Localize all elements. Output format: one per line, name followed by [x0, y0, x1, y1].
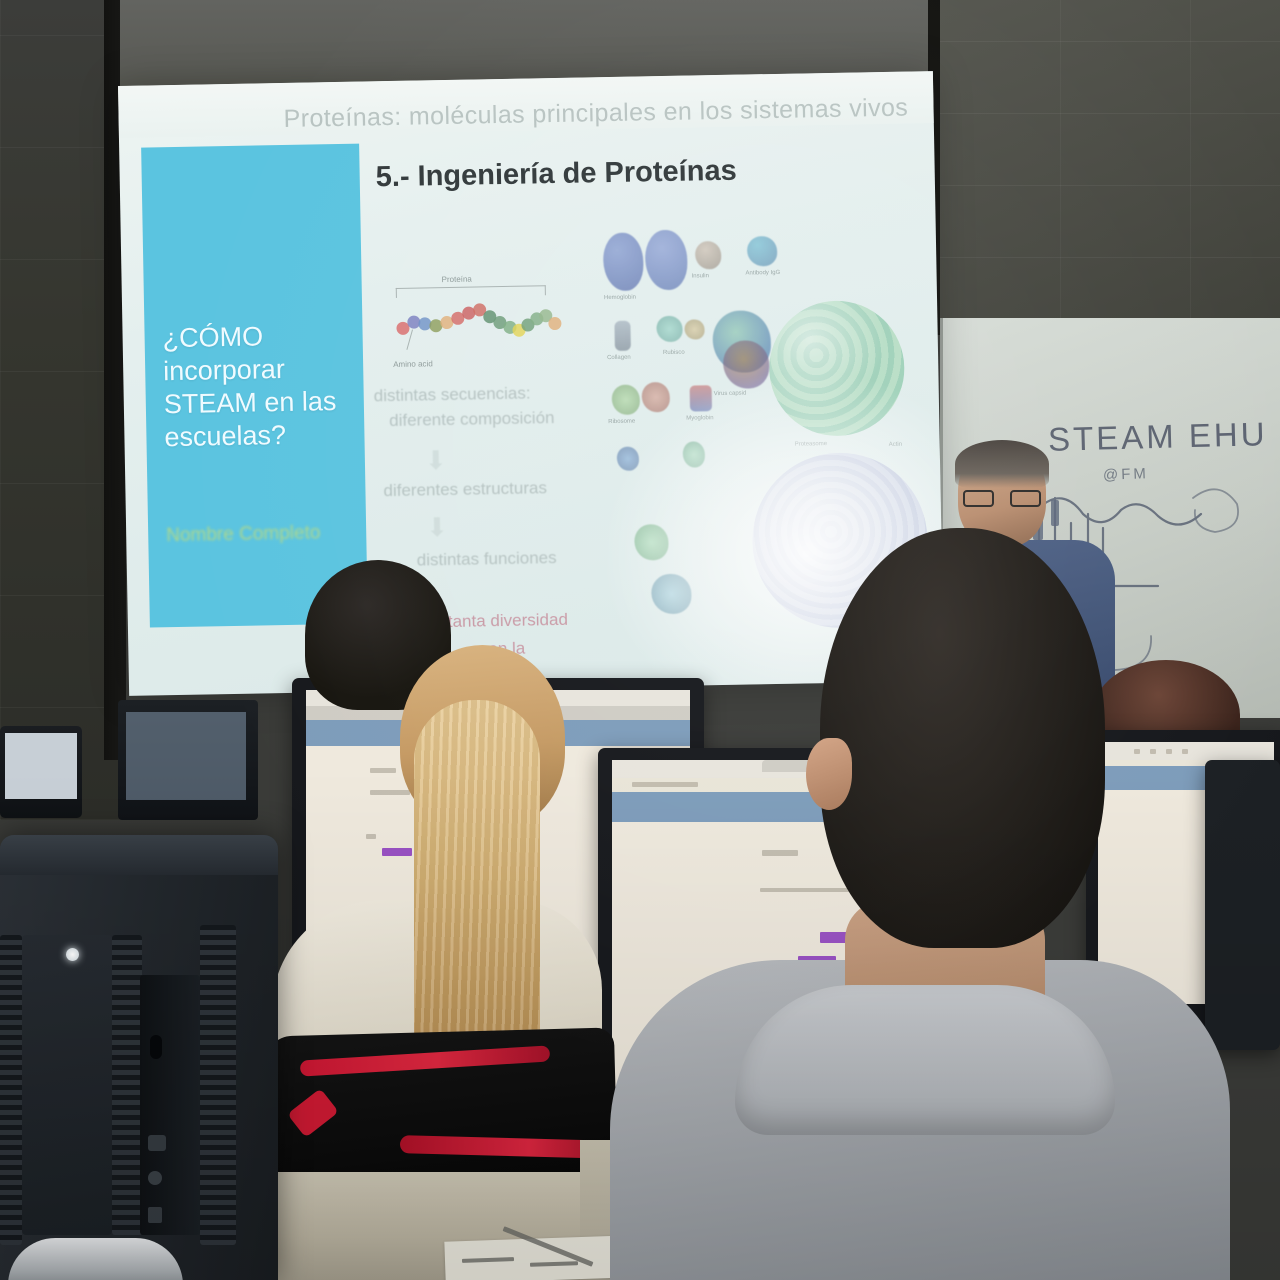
- monitor-left-text-line: [370, 768, 396, 773]
- pc-tower-vent: [0, 935, 22, 1245]
- slide-faded-line-4: distintas funciones: [417, 548, 557, 571]
- protein-blob: [723, 340, 770, 389]
- protein-blob: [645, 230, 688, 291]
- monitor-center-counter-text: [762, 850, 798, 856]
- monitor-far-left: [0, 726, 82, 818]
- protein-blob: [684, 319, 704, 339]
- computer-mouse[interactable]: [8, 1238, 183, 1280]
- slide-question-text: ¿CÓMO incorporar STEAM en las escuelas?: [162, 319, 354, 454]
- protein-blob: [617, 447, 639, 471]
- protein-blob: [690, 385, 712, 411]
- protein-caption: Rubisco: [663, 349, 709, 357]
- pc-tower: [0, 835, 278, 1280]
- monitor-far-left-screen: [5, 733, 77, 799]
- protein-caption: Myoglobin: [686, 415, 732, 423]
- pc-optical-drive-eject-button[interactable]: [150, 1035, 162, 1059]
- slide-question-line4: escuelas?: [164, 420, 286, 452]
- student-hoodie-head: [820, 528, 1105, 948]
- slide-blue-panel: ¿CÓMO incorporar STEAM en las escuelas? …: [141, 144, 368, 628]
- protein-blob: [695, 241, 722, 269]
- slide-faded-line-1: distintas secuencias:: [374, 383, 531, 406]
- pc-power-led-icon[interactable]: [66, 948, 79, 961]
- monitor-right-icon-dot: [1134, 749, 1140, 754]
- monitor-left-highlight: [382, 848, 412, 856]
- slide-faded-line-3: diferentes estructuras: [383, 478, 547, 501]
- pc-optical-drive[interactable]: [140, 975, 200, 1235]
- whiteboard-sub-label: @FM: [1103, 465, 1149, 484]
- slide-faded-line-5: tanta diversidad: [448, 610, 568, 632]
- monitor-right-icon-dot: [1150, 749, 1156, 754]
- classroom-photo-scene: STEAM EHU @FM t (wdt) Proteínas: molécul…: [0, 0, 1280, 1280]
- protein-blob: [747, 236, 778, 267]
- projection-screen: Proteínas: moléculas principales en los …: [118, 71, 944, 696]
- monitor-far-right: [1205, 760, 1280, 1050]
- whiteboard-title: STEAM EHU: [1048, 415, 1268, 459]
- monitor-center-url-text: [632, 782, 698, 787]
- back-monitor-screen: [126, 712, 246, 800]
- pc-audio-jack[interactable]: [148, 1171, 162, 1185]
- protein-blob: [642, 382, 671, 413]
- instructor-hair: [955, 440, 1049, 488]
- monitor-right-icon-dot: [1182, 749, 1188, 754]
- pc-usb-port[interactable]: [148, 1135, 166, 1151]
- protein-caption: Antibody IgG: [745, 270, 791, 278]
- protein-caption: Virus capsid: [714, 390, 774, 398]
- protein-blob: [612, 384, 641, 415]
- protein-blob: [634, 524, 669, 561]
- peptide-bracket: [396, 285, 546, 298]
- slide-question-line2: incorporar: [163, 354, 285, 386]
- monitor-left-text-line: [370, 790, 410, 795]
- slide-arrow-icon: ⬇: [426, 512, 448, 543]
- protein-caption: Proteasome: [795, 441, 841, 449]
- protein-blob: [614, 321, 631, 351]
- pc-tower-top: [0, 835, 278, 875]
- student-hoodie-ear: [806, 738, 852, 810]
- protein-blob: [683, 441, 705, 467]
- protein-caption: Actin: [889, 441, 935, 449]
- peptide-caption-top: Proteína: [442, 275, 472, 285]
- virus-capsid-model: [768, 300, 905, 437]
- pc-tower-vent: [112, 935, 142, 1235]
- slide-question-line3: STEAM en las: [164, 386, 337, 419]
- protein-caption: Ribosome: [608, 418, 654, 426]
- slide-title: 5.- Ingeniería de Proteínas: [375, 155, 737, 195]
- protein-blob: [603, 232, 644, 291]
- monitor-left-text-line: [366, 834, 376, 839]
- slide-author-name: Nombre Completo: [166, 522, 351, 547]
- slide-arrow-icon: ⬇: [425, 445, 447, 476]
- peptide-caption-bottom: Amino acid: [393, 359, 433, 369]
- slide-faded-line-2: diferente composición: [389, 408, 555, 431]
- protein-caption: Hemoglobin: [604, 294, 650, 302]
- protein-blob: [651, 574, 692, 615]
- pc-tower-vent: [200, 925, 236, 1245]
- slide-question-line1: ¿CÓMO: [162, 321, 263, 353]
- protein-caption: Collagen: [607, 354, 653, 362]
- peptide-chain-figure: Proteína Amino acid: [390, 273, 562, 376]
- monitor-right-icon-dot: [1166, 749, 1172, 754]
- student-hoodie-collar: [735, 985, 1115, 1135]
- instructor-glasses-icon: [963, 490, 1041, 507]
- protein-blob: [656, 316, 682, 342]
- pc-usb-port[interactable]: [148, 1207, 162, 1223]
- wall-left-concrete: [0, 0, 120, 820]
- wall-right-concrete: [930, 0, 1280, 330]
- protein-caption: Insulin: [692, 273, 738, 281]
- pc-tower-front-panel: [22, 935, 112, 1235]
